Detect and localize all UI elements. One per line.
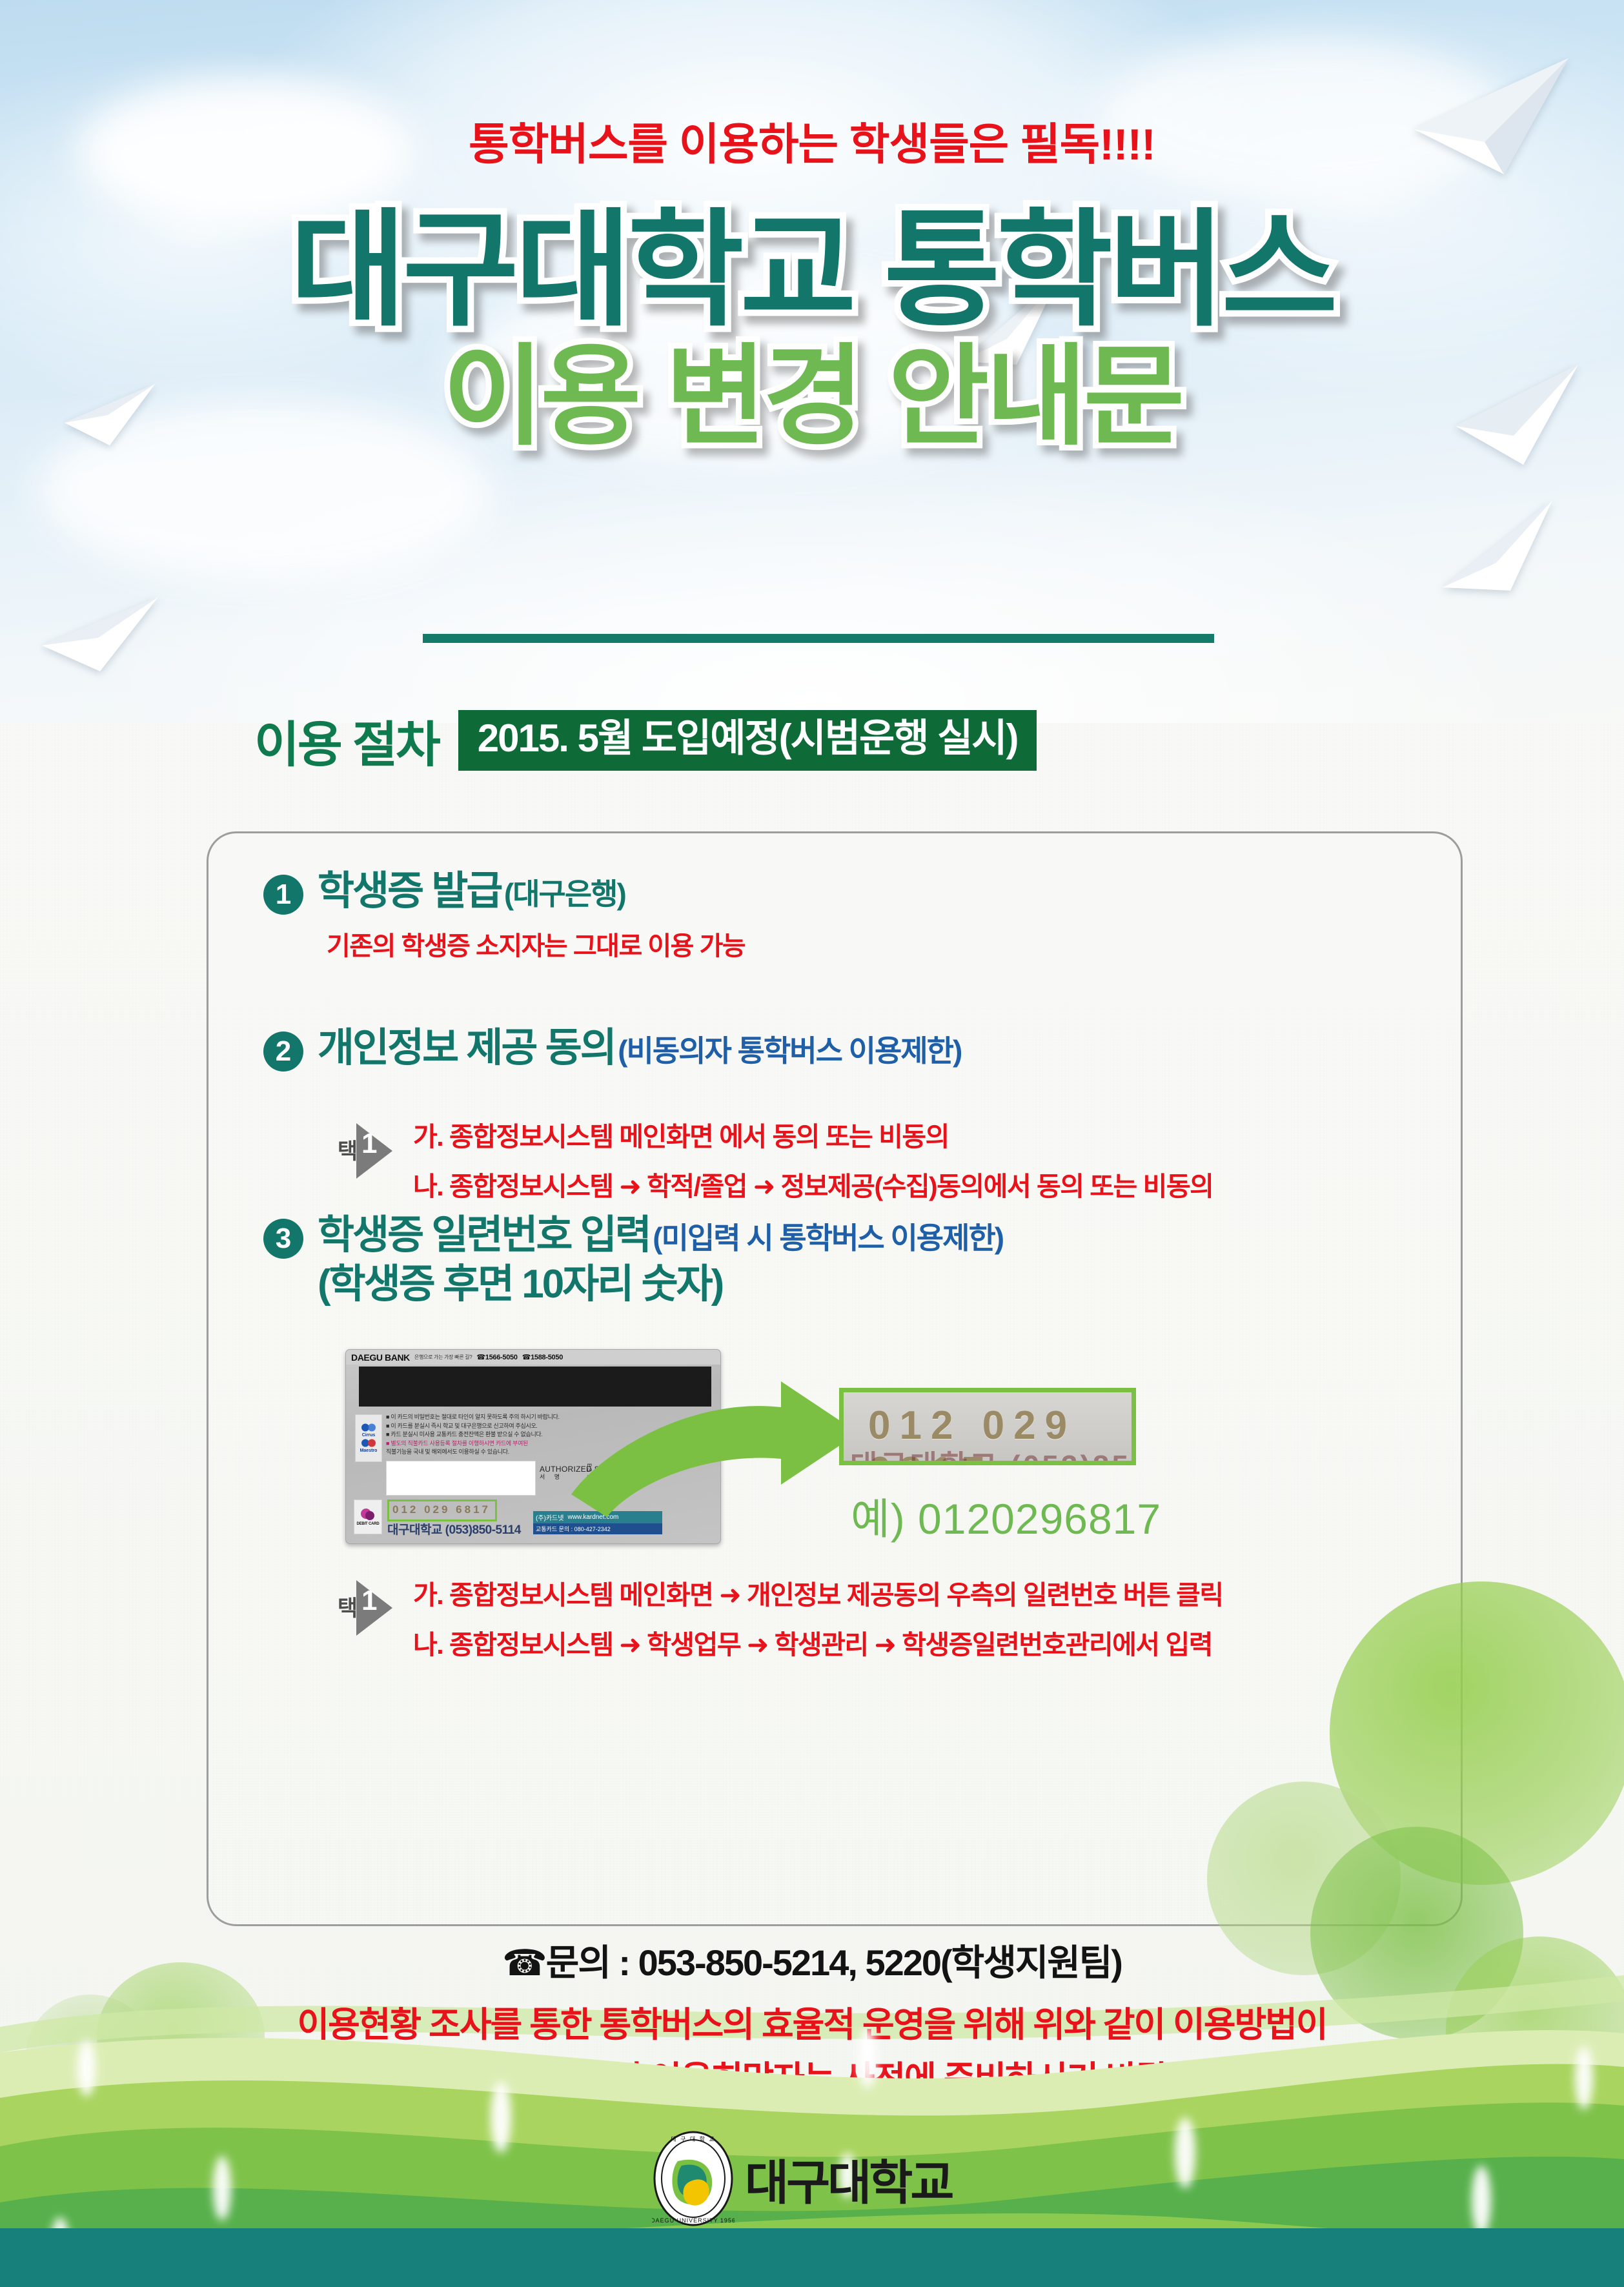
main-title: 대구대학교 통학버스 이용 변경 안내문	[0, 205, 1624, 458]
card-signature-box	[386, 1461, 536, 1496]
card-phone-2: ☎1588-5050	[522, 1353, 563, 1361]
step-3-badge: 3	[263, 1219, 303, 1259]
step-3-heading: 학생증 일련번호 입력 (미입력 시 통학버스 이용제한)	[318, 1212, 1003, 1259]
university-logo: 대 구 대 학 교 DAEGU UNIVERSITY 1956 대구대학교	[652, 2130, 951, 2227]
step-2-pick-label: 택	[334, 1139, 356, 1163]
callout-ghost-text: 대구대학교 (053)850-5	[850, 1443, 1136, 1465]
university-seal-icon: 대 구 대 학 교 DAEGU UNIVERSITY 1956	[652, 2130, 735, 2227]
serial-example-text: 예) 0120296817	[851, 1485, 1161, 1547]
seal-en-text: DAEGU UNIVERSITY 1956	[652, 2217, 735, 2224]
step-3-paren: (미입력 시 통학버스 이용제한)	[653, 1221, 1003, 1255]
step-3-pick-number: 1	[361, 1587, 377, 1615]
university-wordmark: 대구대학교	[745, 2144, 951, 2213]
wave-glow	[77, 2040, 96, 2097]
kicker-headline: 통학버스를 이용하는 학생들은 필독!!!!	[0, 108, 1624, 172]
step-2-pick-number: 1	[361, 1130, 377, 1158]
card-phone-1: ☎1566-5050	[476, 1353, 517, 1361]
step-1-badge: 1	[263, 875, 303, 915]
step-2-choose-one-marker: 택 1	[334, 1123, 392, 1179]
step-2: 2 개인정보 제공 동의 (비동의자 통학버스 이용제한)	[263, 1025, 961, 1072]
serial-zoom-callout: 012 029 6817 대구대학교 (053)850-5	[839, 1388, 1136, 1465]
wave-glow	[1472, 2166, 1491, 2235]
section-pill-badge: 2015. 5월 도입예정(시범운행 실시)	[458, 710, 1037, 771]
paper-plane-icon	[39, 581, 161, 678]
step-2-pick-triangle: 1	[356, 1123, 392, 1179]
title-line-2: 이용 변경 안내문	[0, 336, 1624, 458]
title-line-1: 대구대학교 통학버스	[0, 205, 1624, 336]
debit-card-logo-icon: DEBIT CARD	[354, 1499, 382, 1534]
step-2-option-a: 가. 종합정보시스템 메인화면 에서 동의 또는 비동의	[413, 1123, 1213, 1151]
card-university-line: 대구대학교 (053)850-5114	[387, 1520, 521, 1538]
step-1-paren: (대구은행)	[504, 877, 625, 911]
card-bank-tagline: 은행으로 가는 가장 빠른 길?	[414, 1354, 472, 1361]
step-2-title: 개인정보 제공 동의	[318, 1026, 615, 1070]
title-divider	[423, 634, 1214, 643]
step-3-options: 가. 종합정보시스템 메인화면 ➜ 개인정보 제공동의 우측의 일련번호 버튼 …	[413, 1581, 1223, 1659]
step-3-option-a: 가. 종합정보시스템 메인화면 ➜ 개인정보 제공동의 우측의 일련번호 버튼 …	[413, 1581, 1223, 1609]
cardnet-name: (주)카드넷	[536, 1512, 563, 1522]
step-2-paren: (비동의자 통학버스 이용제한)	[618, 1034, 961, 1068]
step-2-heading: 개인정보 제공 동의 (비동의자 통학버스 이용제한)	[318, 1025, 961, 1072]
wave-glow	[1575, 2046, 1593, 2109]
cirrus-maestro-logo-icon: Cirrus Maestro	[355, 1414, 382, 1462]
contact-line: ☎문의 : 053-850-5214, 5220(학생지원팀)	[0, 1934, 1624, 1986]
paper-plane-icon	[1439, 491, 1556, 594]
step-1-heading: 학생증 발급 (대구은행)	[318, 868, 745, 915]
wave-glow	[491, 2082, 511, 2153]
wave-glow	[858, 2027, 877, 2088]
wave-glow	[213, 2156, 231, 2221]
maestro-label: Maestro	[360, 1448, 378, 1453]
poster: 통학버스를 이용하는 학생들은 필독!!!! 대구대학교 통학버스 이용 변경 …	[0, 0, 1624, 2287]
wave-glow	[1175, 2117, 1195, 2188]
step-3-choose-one-marker: 택 1	[334, 1580, 392, 1636]
step-3-title: 학생증 일련번호 입력	[318, 1213, 650, 1257]
step-2-options: 가. 종합정보시스템 메인화면 에서 동의 또는 비동의 나. 종합정보시스템 …	[413, 1123, 1213, 1201]
step-3-option-b: 나. 종합정보시스템 ➜ 학생업무 ➜ 학생관리 ➜ 학생증일련번호관리에서 입…	[413, 1631, 1223, 1659]
cirrus-label: Cirrus	[362, 1433, 376, 1438]
step-3-pick-triangle: 1	[356, 1580, 392, 1636]
card-bank-name: DAEGU BANK	[351, 1352, 410, 1363]
step-3-subtitle: (학생증 후면 10자리 숫자)	[318, 1261, 1003, 1308]
seal-kr-text: 대 구 대 학 교	[671, 2136, 715, 2142]
green-arrow-icon	[568, 1362, 865, 1530]
footer-bar	[0, 2228, 1624, 2287]
section-header: 이용 절차 2015. 5월 도입예정(시범운행 실시)	[254, 705, 1037, 776]
debit-label: DEBIT CARD	[357, 1522, 380, 1526]
step-3: 3 학생증 일련번호 입력 (미입력 시 통학버스 이용제한) (학생증 후면 …	[263, 1212, 1003, 1308]
section-label: 이용 절차	[254, 705, 439, 776]
step-1: 1 학생증 발급 (대구은행) 기존의 학생증 소지자는 그대로 이용 가능	[263, 868, 745, 962]
step-2-badge: 2	[263, 1032, 303, 1072]
step-1-title: 학생증 발급	[318, 869, 501, 913]
card-serial-number: 012 029 6817	[392, 1503, 491, 1516]
step-3-pick-label: 택	[334, 1596, 356, 1620]
step-1-note: 기존의 학생증 소지자는 그대로 이용 가능	[327, 925, 745, 962]
step-2-option-b: 나. 종합정보시스템 ➜ 학적/졸업 ➜ 정보제공(수집)동의에서 동의 또는 …	[413, 1173, 1213, 1201]
